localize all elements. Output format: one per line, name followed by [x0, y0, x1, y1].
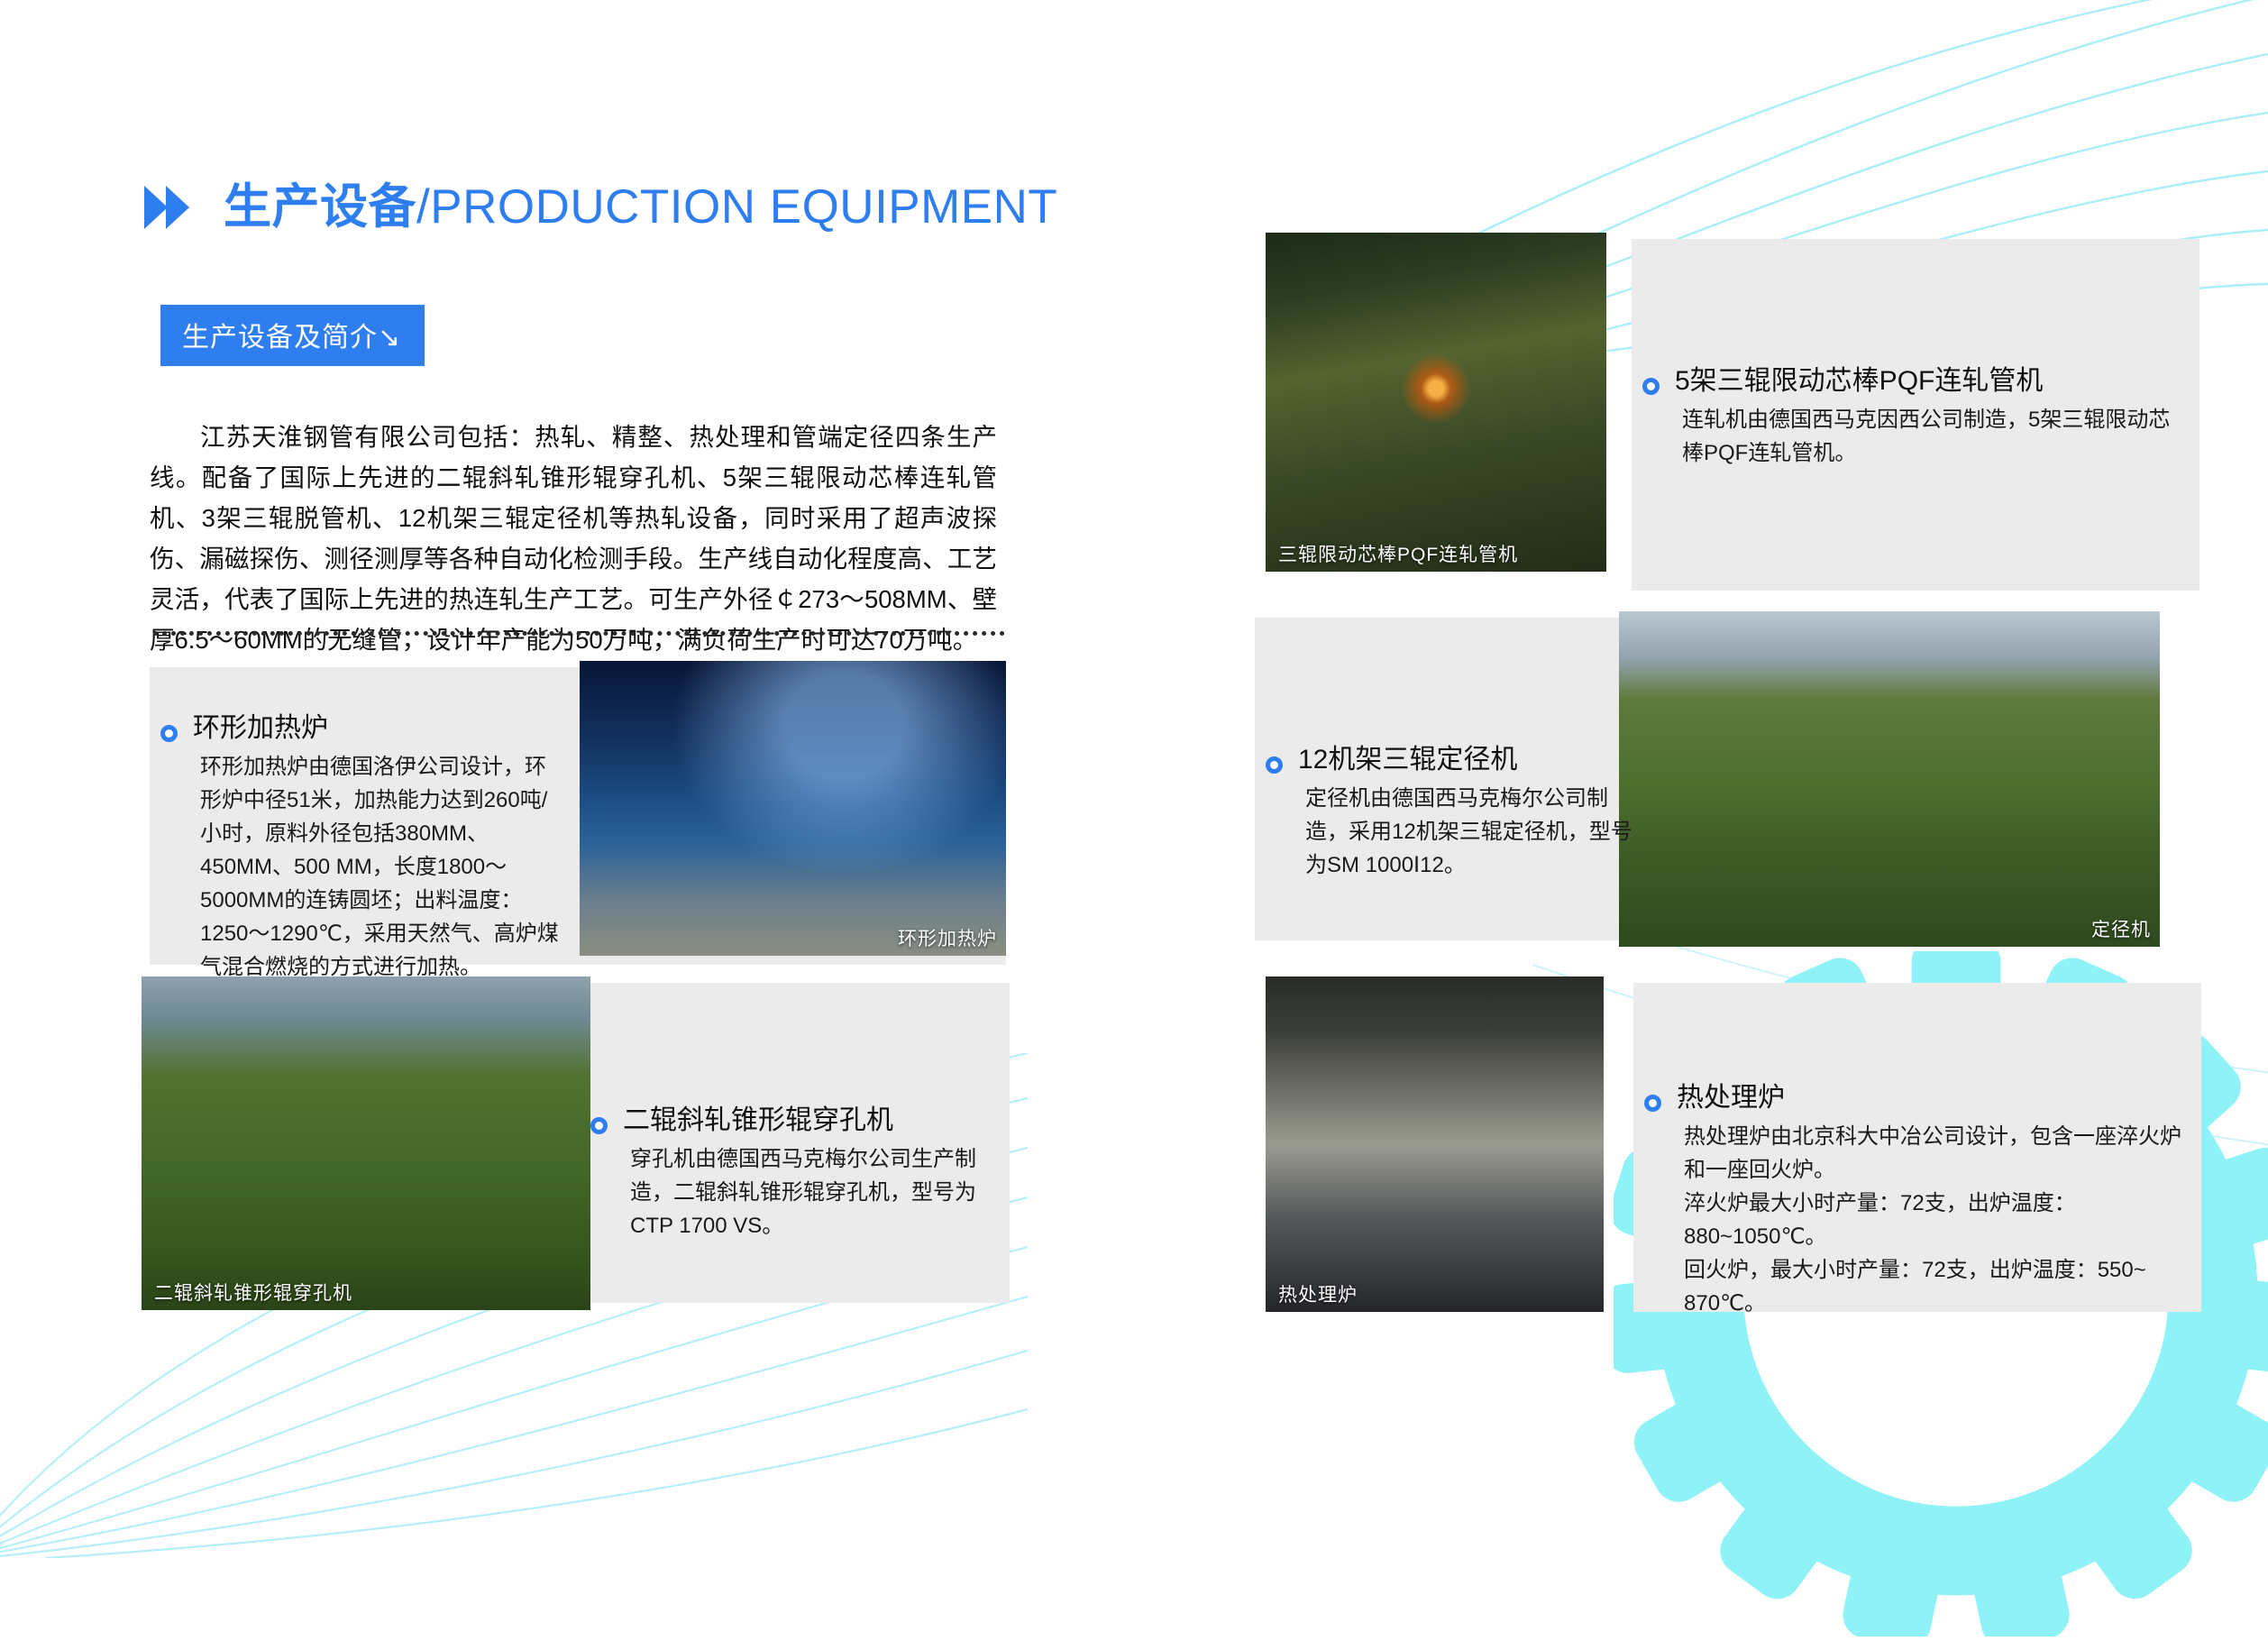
- equipment-desc: 穿孔机由德国西马克梅尔公司生产制造，二辊斜轧锥形辊穿孔机，型号为CTP 1700…: [630, 1142, 1005, 1242]
- section-badge: 生产设备及简介↘: [160, 305, 425, 366]
- bullet-icon: [590, 1117, 608, 1134]
- equipment-desc: 热处理炉由北京科大中冶公司设计，包含一座淬火炉和一座回火炉。 淬火炉最大小时产量…: [1684, 1120, 2194, 1320]
- photo-heat-treatment: 热处理炉: [1266, 976, 1604, 1312]
- equipment-desc: 定径机由德国西马克梅尔公司制造，采用12机架三辊定径机，型号为SM 1000Ⅰ1…: [1305, 782, 1644, 882]
- equipment-desc: 连轧机由德国西马克因西公司制造，5架三辊限动芯棒PQF连轧管机。: [1682, 403, 2183, 470]
- card-piercer-text: 二辊斜轧锥形辊穿孔机 穿孔机由德国西马克梅尔公司生产制造，二辊斜轧锥形辊穿孔机，…: [590, 1105, 1005, 1242]
- equipment-desc-line: 回火炉，最大小时产量：72支，出炉温度：550~ 870℃。: [1684, 1253, 2194, 1320]
- photo-sizing: 定径机: [1619, 611, 2160, 947]
- equipment-title: 二辊斜轧锥形辊穿孔机: [623, 1105, 1005, 1137]
- equipment-title: 12机架三辊定径机: [1298, 744, 1644, 776]
- dotted-divider: [153, 631, 1005, 636]
- brochure-page: 生产设备/PRODUCTION EQUIPMENT 生产设备及简介↘ 江苏天淮钢…: [0, 0, 2268, 1549]
- card-annular-furnace-text: 环形加热炉 环形加热炉由德国洛伊公司设计，环形炉中径51米，加热能力达到260吨…: [160, 712, 566, 984]
- photo-caption: 二辊斜轧锥形辊穿孔机: [154, 1279, 352, 1306]
- card-sizing-text: 12机架三辊定径机 定径机由德国西马克梅尔公司制造，采用12机架三辊定径机，型号…: [1266, 744, 1644, 882]
- bullet-icon: [1644, 1095, 1661, 1112]
- bullet-icon: [1642, 378, 1660, 395]
- photo-annular-furnace: 环形加热炉: [580, 661, 1006, 956]
- photo-caption: 三辊限动芯棒PQF连轧管机: [1278, 540, 1518, 567]
- card-pqf-text: 5架三辊限动芯棒PQF连轧管机 连轧机由德国西马克因西公司制造，5架三辊限动芯棒…: [1642, 365, 2183, 470]
- page-title: 生产设备/PRODUCTION EQUIPMENT: [144, 183, 1057, 231]
- photo-caption: 定径机: [2091, 915, 2151, 942]
- equipment-desc: 环形加热炉由德国洛伊公司设计，环形炉中径51米，加热能力达到260吨/小时，原料…: [200, 750, 566, 984]
- bullet-icon: [160, 725, 178, 742]
- page-title-en: /PRODUCTION EQUIPMENT: [416, 180, 1057, 234]
- bullet-icon: [1266, 756, 1283, 774]
- photo-caption: 热处理炉: [1278, 1280, 1358, 1307]
- equipment-title: 环形加热炉: [193, 712, 566, 745]
- equipment-title: 热处理炉: [1677, 1082, 2194, 1114]
- equipment-title: 5架三辊限动芯棒PQF连轧管机: [1675, 365, 2183, 398]
- double-chevron-right-icon: [144, 186, 200, 229]
- photo-piercer: 二辊斜轧锥形辊穿孔机: [142, 976, 590, 1310]
- equipment-desc-line: 淬火炉最大小时产量：72支，出炉温度：880~1050℃。: [1684, 1187, 2194, 1253]
- equipment-desc-line: 热处理炉由北京科大中冶公司设计，包含一座淬火炉和一座回火炉。: [1684, 1120, 2194, 1187]
- page-title-cn: 生产设备: [224, 180, 416, 234]
- intro-paragraph: 江苏天淮钢管有限公司包括：热轧、精整、热处理和管端定径四条生产线。配备了国际上先…: [150, 417, 997, 660]
- photo-caption: 环形加热炉: [898, 924, 997, 951]
- card-heat-treatment-text: 热处理炉 热处理炉由北京科大中冶公司设计，包含一座淬火炉和一座回火炉。 淬火炉最…: [1644, 1082, 2194, 1320]
- photo-pqf: 三辊限动芯棒PQF连轧管机: [1266, 233, 1606, 572]
